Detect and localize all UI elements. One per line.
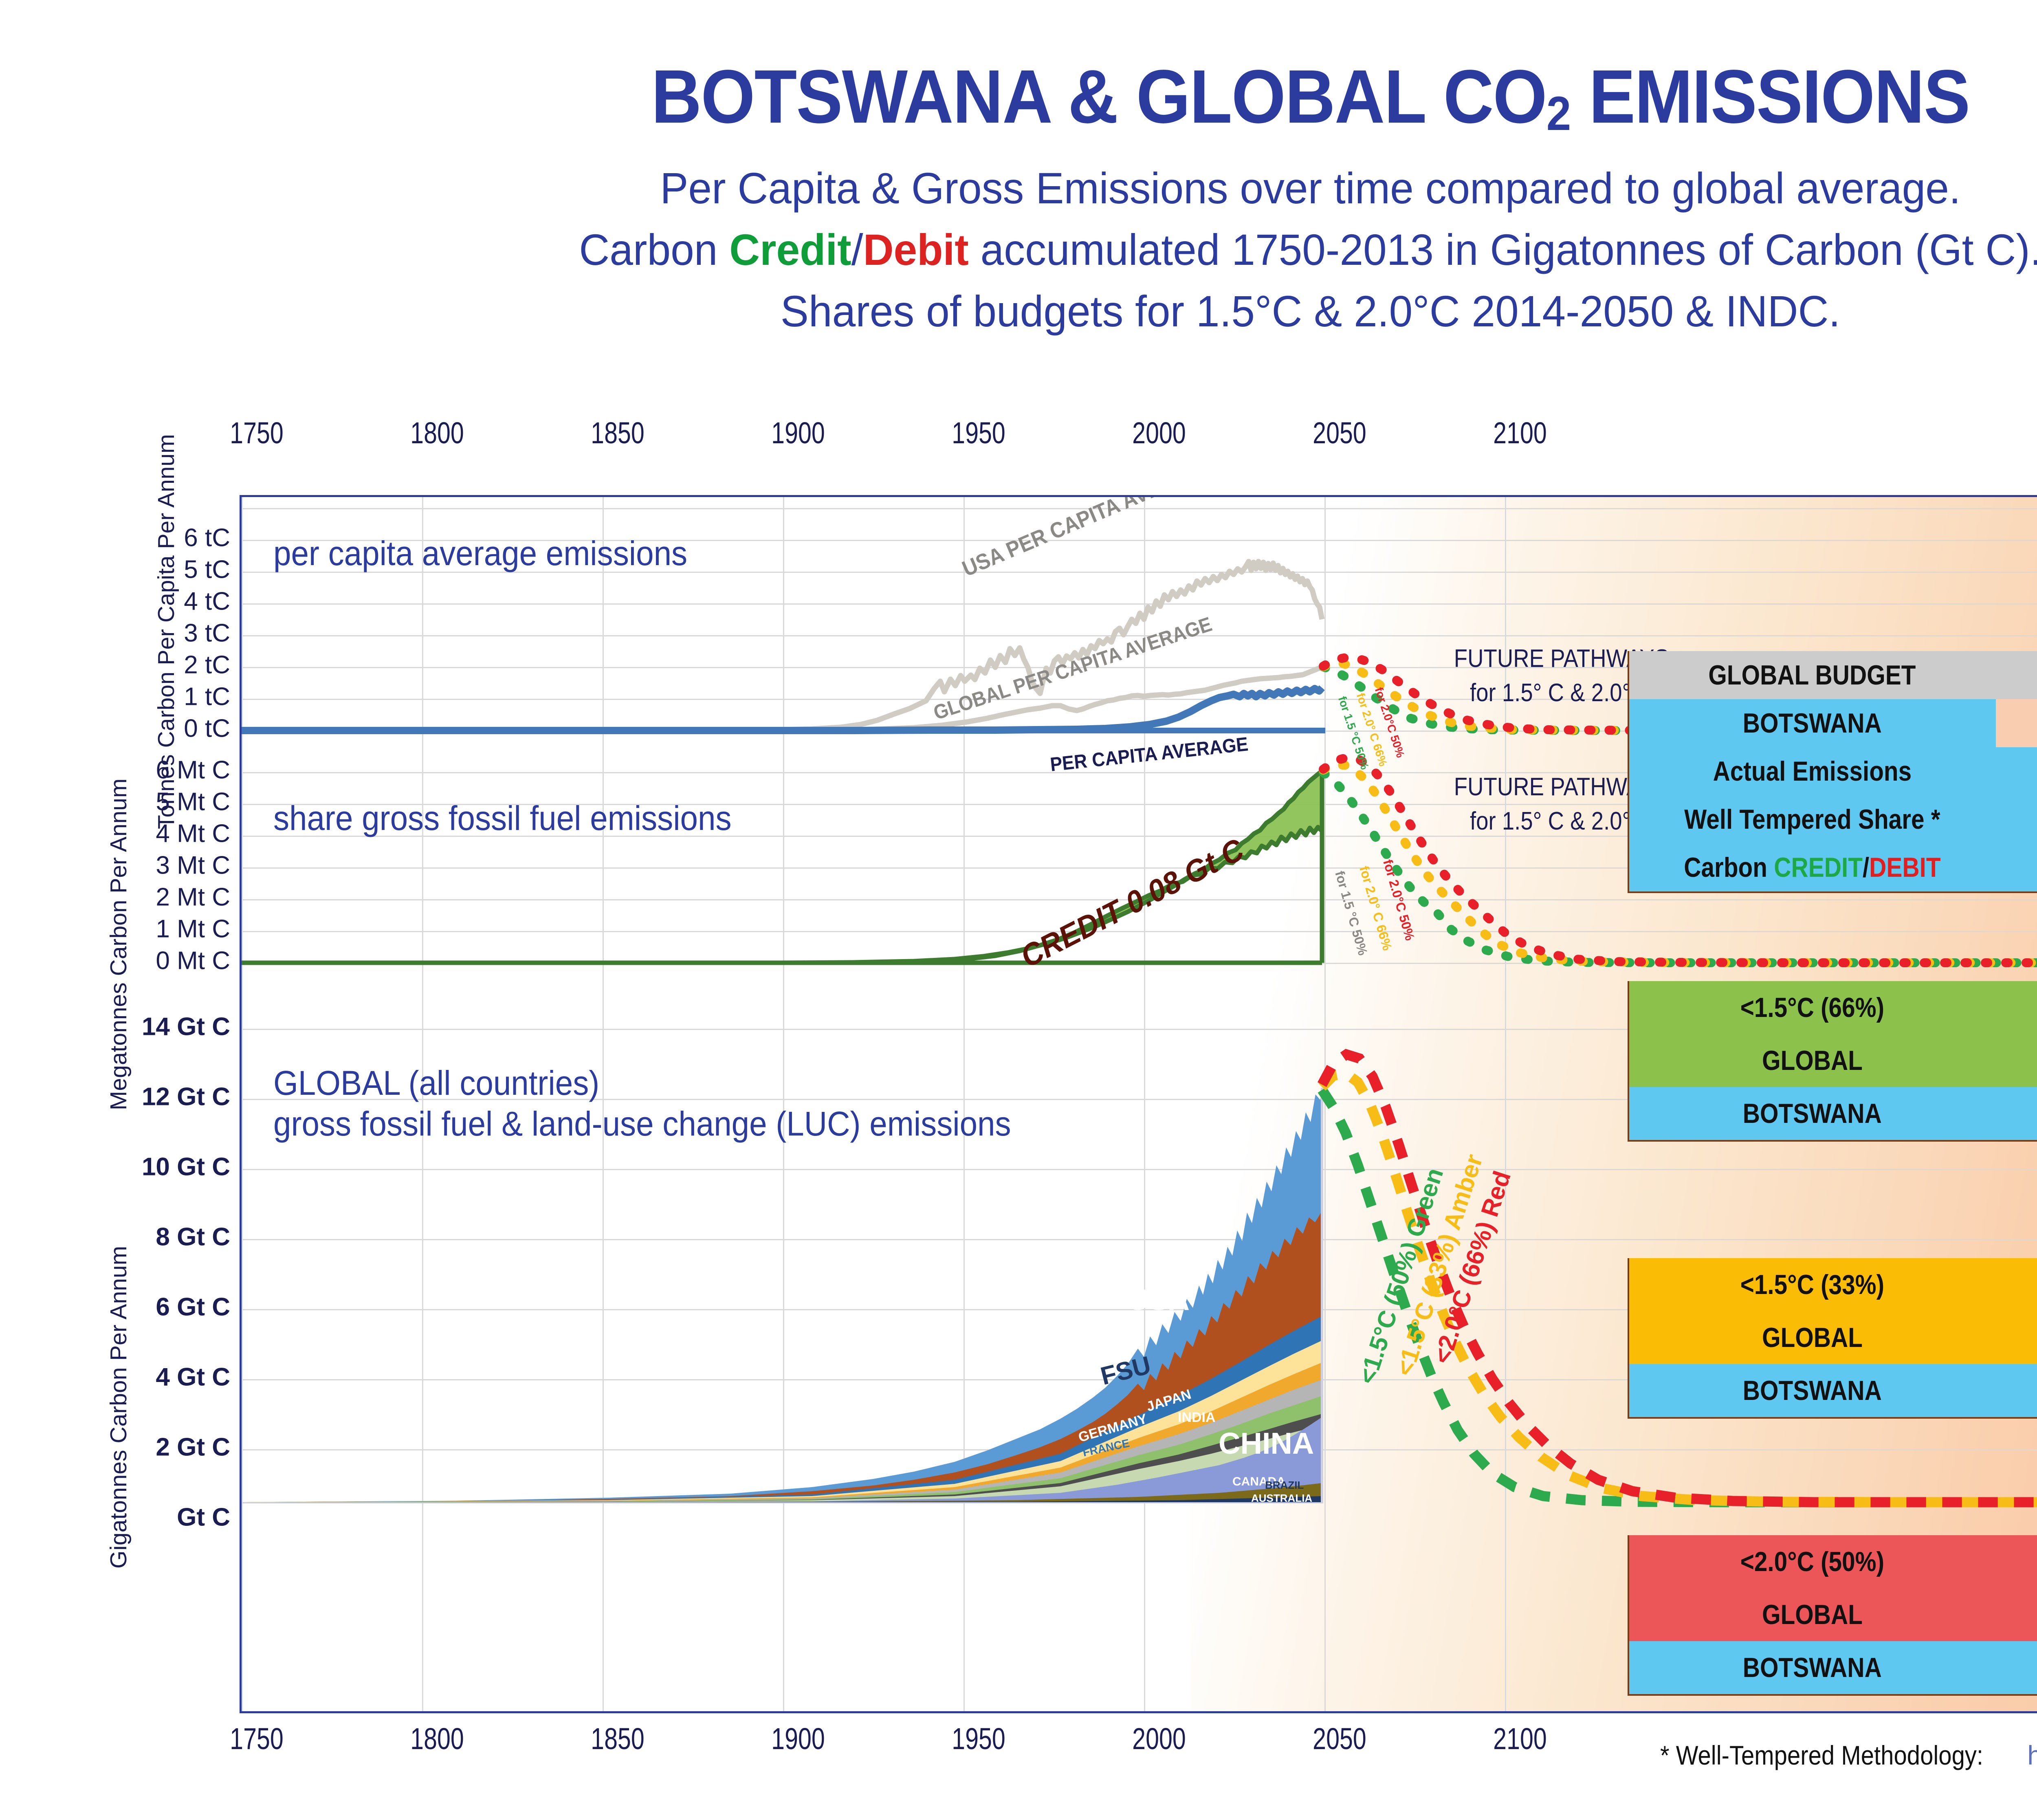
y-tick-p3-10: 10 Gt C: [142, 1153, 230, 1182]
cell-label: BOTSWANA: [1629, 1375, 1995, 1406]
x-tick-bot-1950: 1950: [952, 1721, 1005, 1756]
table-row: BOTSWANA 0.06 Gt C 0.03%: [1629, 1364, 2037, 1417]
panel3-heading-b: gross fossil fuel & land-use change (LUC…: [273, 1104, 1011, 1144]
cell-value: 0.03 Gt C: [1995, 755, 2037, 787]
x-tick-bot-2050: 2050: [1313, 1721, 1366, 1756]
cell-value: 117 Gt C: [1995, 1045, 2037, 1076]
cell-label: <1.5°C (33%): [1629, 1269, 1995, 1301]
cell-value: 487.0 Gt C: [1995, 659, 2037, 691]
panel1-heading: per capita average emissions: [273, 534, 687, 573]
page-title: BOTSWANA & GLOBAL CO2 EMISSIONS: [105, 57, 2037, 139]
cell-label: GLOBAL: [1629, 1045, 1995, 1076]
y-tick-p3-0: Gt C: [177, 1503, 230, 1532]
cell-risk-level: LOW RISK: [1995, 992, 2037, 1023]
label-china: CHINA: [1219, 1426, 1314, 1461]
cell-value: 0.08 Gt C: [1995, 852, 2037, 883]
table-row: <2.0°C (50%) HIGH RISK: [1629, 1535, 2037, 1588]
cell-value: 0.04 Gt C: [1995, 1098, 2037, 1129]
cell-label: Actual Emissions: [1629, 755, 1995, 787]
x-tick-bot-1800: 1800: [410, 1721, 464, 1756]
table-row: GLOBAL BUDGET 487.0 Gt C 100%: [1629, 651, 2037, 699]
co2-subscript: 2: [1546, 87, 1571, 141]
label-india: INDIA: [1178, 1410, 1216, 1426]
table-row: BOTSWANA: [1629, 699, 2037, 747]
debit-keyword: Debit: [863, 225, 969, 274]
table-row: <1.5°C (33%) MEDIUM RISK: [1629, 1258, 2037, 1311]
x-tick-bot-2000: 2000: [1132, 1721, 1186, 1756]
cell-risk-level: HIGH RISK: [1995, 1546, 2037, 1578]
x-tick-1850: 1850: [591, 416, 645, 450]
cell-value: 0.07 Gt C: [1995, 1652, 2037, 1684]
x-tick-2050: 2050: [1313, 416, 1366, 450]
cell-label: BOTSWANA: [1629, 1098, 1995, 1129]
table-row: BOTSWANA 0.04 Gt C 0.03%: [1629, 1087, 2037, 1140]
table-past-body: GLOBAL BUDGET 487.0 Gt C 100% BOTSWANA A…: [1628, 651, 2037, 893]
table-past: PAST 1750 to 2013 GLOBAL BUDGET 487.0 Gt…: [1628, 651, 2037, 928]
y-tick-p3-12: 12 Gt C: [142, 1083, 230, 1111]
infographic-page: BOTSWANA & GLOBAL CO2 EMISSIONS Per Capi…: [0, 0, 2037, 1820]
table-medium-body: <1.5°C (33%) MEDIUM RISK GLOBAL 198 Gt C…: [1628, 1258, 2037, 1419]
table-row: Actual Emissions 0.03 Gt C 0.01%: [1629, 747, 2037, 795]
x-axis-top: 1750 1800 1850 1900 1950 2000 2050 2100: [0, 416, 2037, 456]
table-row: Carbon CREDIT/DEBIT 0.08 Gt C 0.02%: [1629, 843, 2037, 891]
label-australia: AUSTRALIA: [1251, 1492, 1312, 1505]
cell-label-credit-debit: Carbon CREDIT/DEBIT: [1629, 852, 1995, 883]
methodology-link[interactable]: http://www.gci.org.uk/Easy_Visualization…: [2027, 1740, 2037, 1770]
x-tick-1750: 1750: [230, 416, 284, 450]
table-row: GLOBAL 117 Gt C 100%: [1629, 1034, 2037, 1087]
panel3-heading-a: GLOBAL (all countries): [273, 1063, 599, 1103]
y-tick-p3-6: 6 Gt C: [156, 1293, 230, 1322]
x-tick-1900: 1900: [771, 416, 825, 450]
cell-risk-level: MEDIUM RISK: [1995, 1269, 2037, 1301]
label-brazil: BRAZIL: [1265, 1479, 1304, 1492]
cell-label: BOTSWANA: [1629, 1652, 1995, 1684]
table-row: <1.5°C (66%) LOW RISK: [1629, 981, 2037, 1034]
subtitle-line-3: Shares of budgets for 1.5°C & 2.0°C 2014…: [53, 280, 2037, 342]
table-row: Well Tempered Share * 0.11 Gt C 0.02%: [1629, 795, 2037, 843]
x-tick-2100: 2100: [1493, 416, 1547, 450]
label-luc: LUC: [1126, 1208, 1187, 1241]
y-tick-p3-8: 8 Gt C: [156, 1223, 230, 1252]
x-tick-1950: 1950: [952, 416, 1005, 450]
cell-label: GLOBAL: [1629, 1599, 1995, 1631]
table-row: BOTSWANA 0.07 Gt C 0.03%: [1629, 1641, 2037, 1694]
footnote: * Well-Tempered Methodology: http://www.…: [1660, 1740, 2037, 1771]
cell-label: GLOBAL: [1629, 1322, 1995, 1353]
cell-value: 0.11 Gt C: [1995, 803, 2037, 835]
budget-tables: PAST 1750 to 2013 GLOBAL BUDGET 487.0 Gt…: [1628, 615, 2037, 1755]
x-tick-2000: 2000: [1132, 416, 1186, 450]
x-tick-bot-2100: 2100: [1493, 1721, 1547, 1756]
x-tick-bot-1900: 1900: [771, 1721, 825, 1756]
table-row: GLOBAL 198 Gt C 100%: [1629, 1311, 2037, 1364]
y-tick-p3-4: 4 Gt C: [156, 1363, 230, 1392]
cell-value: 0.06 Gt C: [1995, 1375, 2037, 1406]
label-usa: USA: [1128, 1283, 1190, 1317]
table-medium-risk: FUTURE 2014-2050 <1.5°C (33%) MEDIUM RIS…: [1628, 1258, 2037, 1478]
y-tick-p3-2: 2 Gt C: [156, 1433, 230, 1462]
cell-value: 240 Gt C: [1995, 1599, 2037, 1631]
table-high-risk: FUTURE 2014-2060 <2.0°C (50%) HIGH RISK …: [1628, 1535, 2037, 1755]
x-tick-1800: 1800: [410, 416, 464, 450]
panel2-heading: share gross fossil fuel emissions: [273, 799, 732, 838]
table-row: GLOBAL 240 Gt C 100%: [1629, 1588, 2037, 1641]
table-low-risk: FUTURE 2014-2035 <1.5°C (66%) LOW RISK G…: [1628, 981, 2037, 1201]
y-tick-p3-14: 14 Gt C: [142, 1012, 230, 1041]
y-ticks-panel3: 14 Gt C 12 Gt C 10 Gt C 8 Gt C 6 Gt C 4 …: [0, 416, 230, 1744]
table-high-body: <2.0°C (50%) HIGH RISK GLOBAL 240 Gt C 1…: [1628, 1535, 2037, 1696]
cell-label: BOTSWANA: [1629, 707, 1995, 739]
cell-label: <1.5°C (66%): [1629, 992, 1995, 1023]
subtitle-line-2: Carbon Credit/Debit accumulated 1750-201…: [53, 219, 2037, 280]
footnote-text: * Well-Tempered Methodology:: [1660, 1740, 1983, 1771]
cell-label: GLOBAL BUDGET: [1629, 659, 1995, 691]
cell-label: <2.0°C (50%): [1629, 1546, 1995, 1578]
credit-keyword: Credit: [729, 225, 851, 274]
header: BOTSWANA & GLOBAL CO2 EMISSIONS Per Capi…: [0, 57, 2037, 342]
cell-value: 198 Gt C: [1995, 1322, 2037, 1353]
subtitle-line-1: Per Capita & Gross Emissions over time c…: [53, 157, 2037, 219]
x-tick-bot-1850: 1850: [591, 1721, 645, 1756]
x-tick-bot-1750: 1750: [230, 1721, 284, 1756]
cell-label: Well Tempered Share *: [1629, 803, 1995, 835]
table-low-body: <1.5°C (66%) LOW RISK GLOBAL 117 Gt C 10…: [1628, 981, 2037, 1142]
